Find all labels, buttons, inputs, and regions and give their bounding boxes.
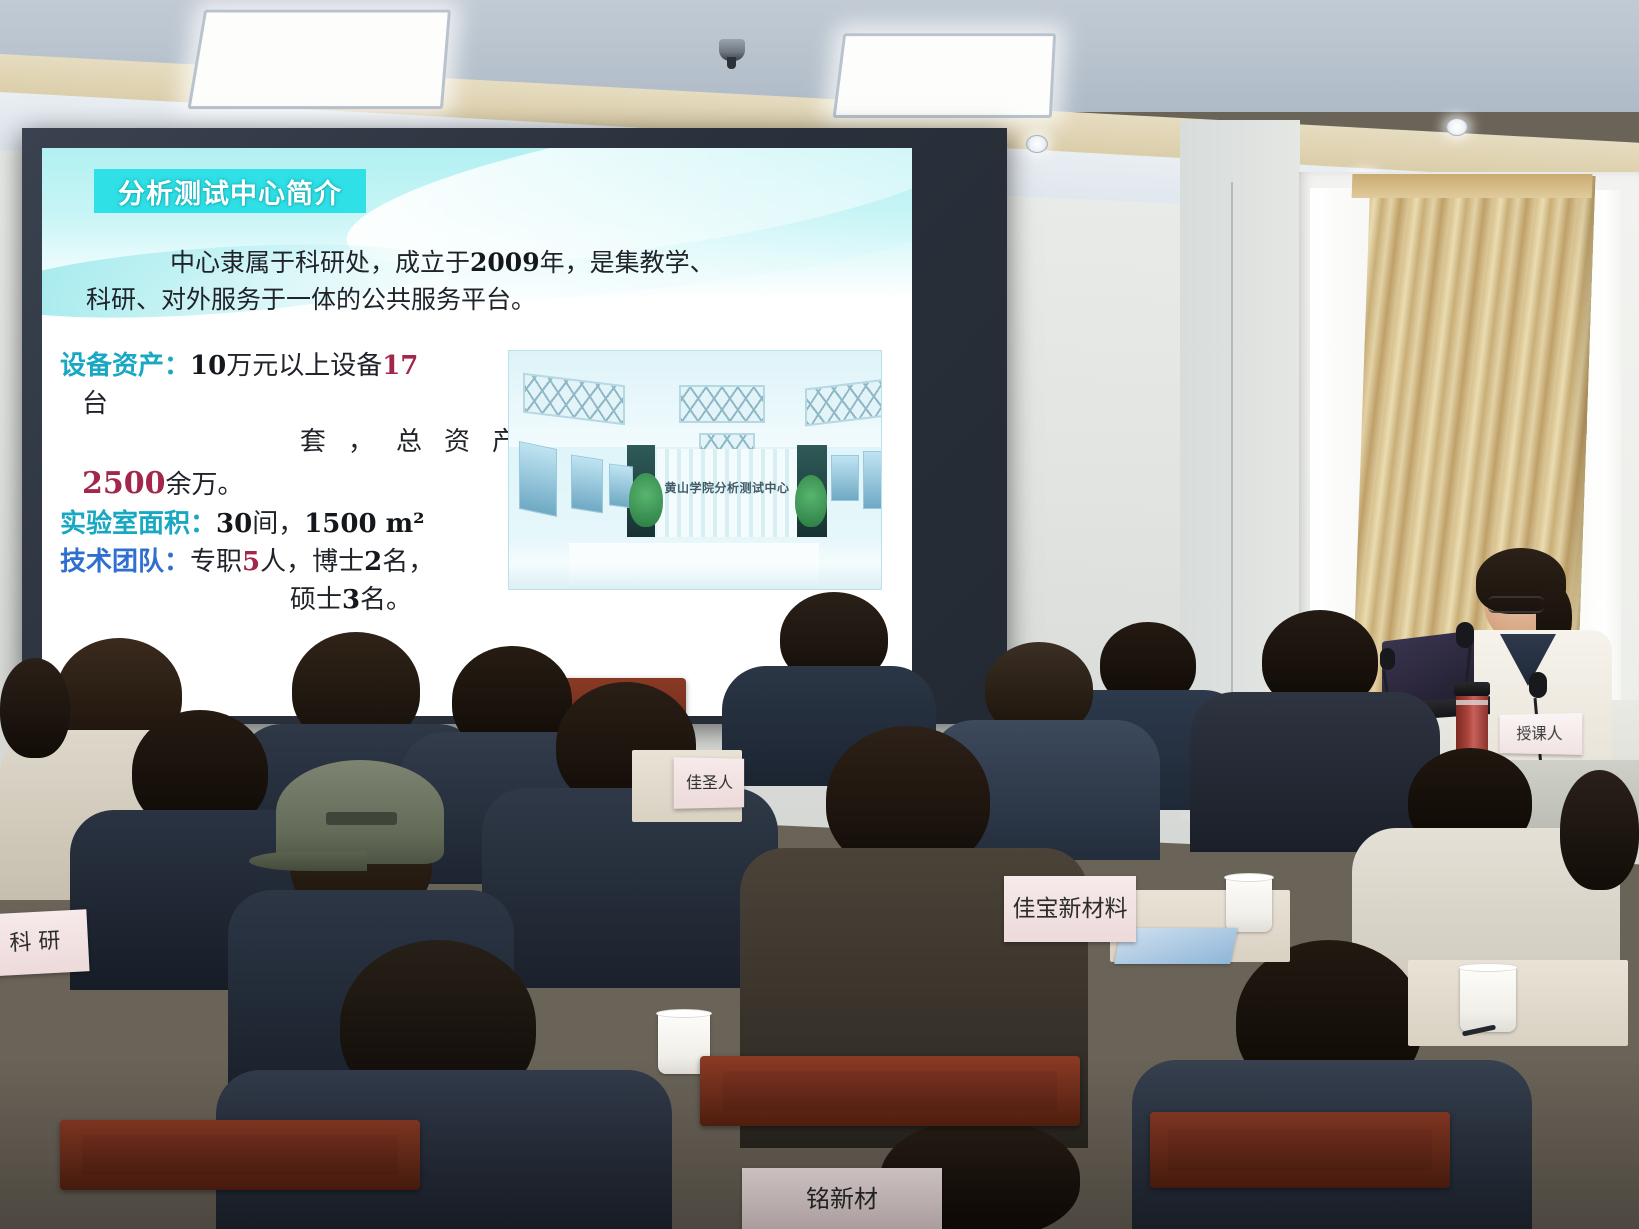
cap-brim (249, 851, 367, 871)
placard-text: 佳圣人 (674, 757, 744, 809)
photo-plant (629, 473, 663, 527)
placard-mid-left: 佳圣人 (674, 757, 744, 809)
paragraph-line1-head: 中心隶属于科研处，成立于 (170, 248, 470, 277)
paragraph-line2: 科研、对外服务于一体的公共服务平台。 (86, 285, 536, 314)
slide-title: 分析测试中心简介 (94, 169, 366, 213)
paragraph-year: 2009 (470, 248, 540, 277)
audience-head (0, 658, 70, 758)
paper-cup (1226, 876, 1272, 932)
detail-row-equipment: 设备资产：10万元以上设备17 (60, 348, 522, 386)
detail-value: 17 (382, 351, 418, 381)
baseball-cap (276, 760, 444, 864)
photo-poster (831, 455, 859, 501)
detail-row-lab-area: 实验室面积：30间，1500 m² (60, 506, 522, 544)
detail-row-total-assets-label: 套 ， 总 资 产 (60, 424, 522, 462)
ceiling-panel-light-icon (833, 33, 1057, 118)
photo-poster (863, 451, 882, 509)
photo-ceiling-grille (679, 385, 765, 423)
detail-value: 2500 (82, 466, 166, 501)
lecture-room-scene: 分析测试中心简介 中心隶属于科研处，成立于2009年，是集教学、 科研、对外服务… (0, 0, 1639, 1229)
audience-head (1560, 770, 1639, 890)
downlight-icon (1446, 118, 1468, 136)
desk-surface (1408, 960, 1628, 1046)
detail-word: 套 (300, 424, 326, 462)
placard-bottom: 铭新材 (742, 1168, 942, 1229)
detail-value: 1500 m² (304, 509, 424, 539)
chair (60, 1120, 420, 1190)
detail-value: 10 (190, 351, 226, 381)
chair (700, 1056, 1080, 1126)
downlight-icon (1026, 135, 1048, 153)
detail-word: 总 (396, 424, 422, 462)
curtain-top-fold (1352, 174, 1593, 198)
paragraph-line1-tail: 年，是集教学、 (540, 248, 715, 277)
placard-text: 佳宝新材料 (1004, 876, 1136, 942)
placard-front-left: 科 研 (0, 909, 90, 976)
audience-area: 佳圣人 佳宝新材料 科 研 铭新材 (0, 560, 1639, 1229)
detail-word: ， (348, 424, 374, 462)
detail-tail: 台 (82, 389, 108, 419)
paper-cup (1460, 966, 1516, 1032)
detail-row-equipment-tail: 台 (60, 386, 522, 424)
photo-poster (519, 441, 557, 517)
photo-poster (571, 454, 603, 513)
ceiling-panel-light-icon (187, 10, 450, 109)
detail-unit: 余万。 (166, 470, 244, 500)
detail-value: 30 (216, 509, 252, 539)
slide-photo-lobby: 黄山学院分析测试中心 (508, 350, 882, 590)
detail-mid: 间， (252, 509, 304, 539)
placard-text: 铭新材 (742, 1168, 942, 1229)
photo-plant (795, 475, 827, 527)
cap-strap (326, 812, 397, 825)
detail-word: 资 (444, 424, 470, 462)
chair (1150, 1112, 1450, 1188)
placard-text: 科 研 (0, 909, 90, 976)
detail-label: 设备资产： (60, 351, 190, 381)
detail-label: 实验室面积： (60, 509, 216, 539)
slide-paragraph: 中心隶属于科研处，成立于2009年，是集教学、 科研、对外服务于一体的公共服务平… (86, 244, 856, 318)
placard-center: 佳宝新材料 (1004, 876, 1136, 942)
detail-mid: 万元以上设备 (226, 351, 382, 381)
photo-wall-signage: 黄山学院分析测试中心 (661, 477, 793, 499)
detail-row-total-assets-value: 2500余万。 (60, 462, 522, 506)
dome-camera-icon (719, 39, 745, 61)
